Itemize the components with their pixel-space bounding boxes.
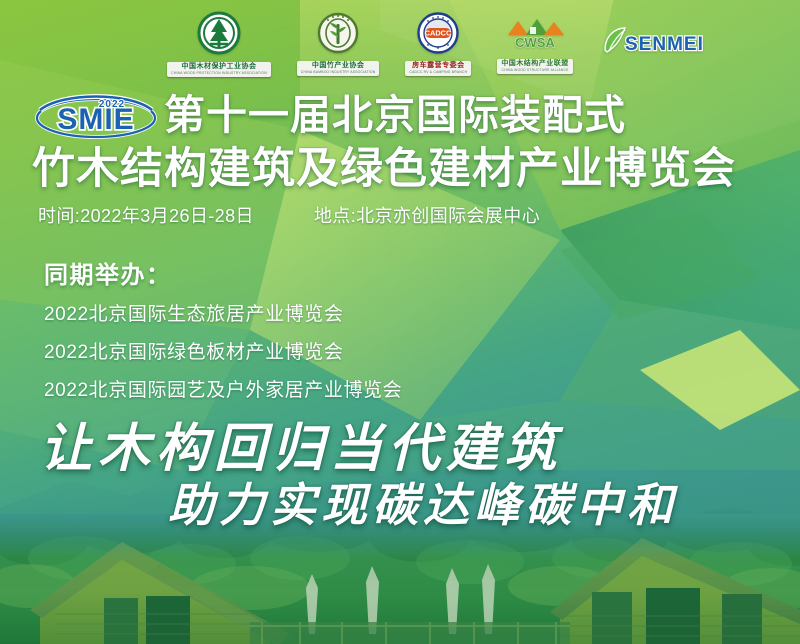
cwsa-acronym: CWSA (515, 35, 555, 50)
smie-year-text: 2022 (99, 99, 125, 110)
cadcc-acronym: CADCC (425, 28, 452, 37)
senmei-acronym: SENMEI (625, 34, 703, 55)
logo-subcaption: CHINA WOOD STRUCTURE ALLIANCE (501, 68, 569, 72)
event-date: 时间:2022年3月26日-28日 (38, 205, 254, 227)
exhibition-poster: 中国木材保护工业协会 CHINA WOOD PROTECTION INDUSTR… (0, 0, 800, 644)
concurrent-event-item: 2022北京国际生态旅居产业博览会 (44, 304, 402, 325)
concurrent-event-item: 2022北京国际园艺及户外家居产业博览会 (44, 380, 402, 401)
logo-caption: 房车露营专委会 CADCC RV & CAMPING BRANCH (405, 61, 471, 76)
cadcc-rv-camping-committee-logo[interactable]: CADCC 房车露营专委会 CADCC RV & CAMPING BRANCH (405, 11, 471, 76)
smie-logo: SMIE 2022 (34, 90, 158, 140)
concurrent-events-heading: 同期举办： (44, 262, 402, 290)
cwsa-china-wood-structure-association-logo[interactable]: CWSA 中国木结构产业联盟 CHINA WOOD STRUCTURE ALLI… (497, 13, 573, 74)
slogan-line1: 让木构回归当代建筑 (0, 418, 800, 480)
concurrent-events-section: 同期举办： 2022北京国际生态旅居产业博览会 2022北京国际绿色板材产业博览… (44, 262, 402, 418)
slogan-line2: 助力实现碳达峰碳中和 (0, 476, 800, 534)
pine-tree-seal-icon (196, 10, 242, 61)
logo-caption: 中国竹产业协会 CHINA BAMBOO INDUSTRY ASSOCIATIO… (297, 61, 380, 76)
logo-caption: 中国木结构产业联盟 CHINA WOOD STRUCTURE ALLIANCE (497, 59, 573, 74)
china-wood-protection-industry-association-logo[interactable]: 中国木材保护工业协会 CHINA WOOD PROTECTION INDUSTR… (167, 10, 271, 77)
poster-title-block: SMIE 2022 第十一届北京国际装配式 竹木结构建筑及绿色建材产业博览会 (0, 88, 800, 195)
title-first-row: SMIE 2022 第十一届北京国际装配式 (0, 88, 800, 142)
logo-caption: 中国木材保护工业协会 CHINA WOOD PROTECTION INDUSTR… (167, 62, 271, 77)
logo-subcaption: CHINA BAMBOO INDUSTRY ASSOCIATION (301, 70, 376, 74)
organizer-logo-strip: 中国木材保护工业协会 CHINA WOOD PROTECTION INDUSTR… (0, 0, 800, 86)
page-title-line2: 竹木结构建筑及绿色建材产业博览会 (0, 143, 800, 195)
bamboo-industry-association-logo[interactable]: 中国竹产业协会 CHINA BAMBOO INDUSTRY ASSOCIATIO… (297, 11, 380, 76)
poster-slogan: 让木构回归当代建筑 助力实现碳达峰碳中和 (0, 418, 800, 534)
logo-subcaption: CADCC RV & CAMPING BRANCH (409, 70, 467, 74)
event-venue: 地点:北京亦创国际会展中心 (314, 205, 540, 227)
event-meta-row: 时间:2022年3月26日-28日 地点:北京亦创国际会展中心 (38, 205, 540, 227)
cadcc-badge-icon: CADCC (416, 11, 460, 60)
leaf-wordmark-icon: SENMEI (599, 24, 703, 63)
bamboo-seal-icon (316, 11, 360, 60)
logo-subcaption: CHINA WOOD PROTECTION INDUSTRY ASSOCIATI… (171, 71, 267, 75)
concurrent-event-item: 2022北京国际绿色板材产业博览会 (44, 342, 402, 363)
house-roof-icon: CWSA (504, 13, 566, 58)
page-title-line1: 第十一届北京国际装配式 (164, 92, 626, 138)
senmei-logo[interactable]: SENMEI (599, 24, 703, 63)
